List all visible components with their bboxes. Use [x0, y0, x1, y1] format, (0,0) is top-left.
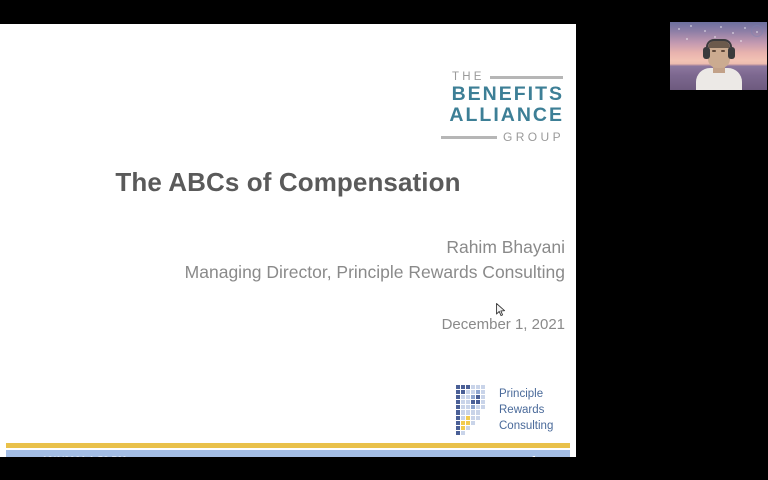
video-background-sparkle: [714, 36, 716, 38]
logo-dot: [476, 405, 480, 409]
presenter-name: Rahim Bhayani: [0, 235, 565, 260]
logo-dot: [461, 390, 465, 394]
logo-dot: [471, 431, 475, 435]
logo-rule-bottom: [441, 136, 497, 139]
logo-dot: [466, 405, 470, 409]
logo-dot: [476, 390, 480, 394]
logo-text-alliance: ALLIANCE: [449, 105, 564, 127]
logo-dot: [471, 426, 475, 430]
logo-dot: [456, 421, 460, 425]
logo-wordmark: Principle Rewards Consulting: [499, 386, 553, 435]
logo-dot: [466, 410, 470, 414]
logo-text-group: GROUP: [503, 131, 564, 143]
presenter-video-thumbnail[interactable]: [670, 22, 767, 90]
sponsor-line-2: Rewards: [499, 402, 553, 418]
sponsor-line-3: Consulting: [499, 418, 553, 434]
logo-dot: [461, 410, 465, 414]
video-background-sparkle: [704, 30, 706, 32]
benefits-alliance-logo: THE BENEFITS ALLIANCE GROUP: [452, 72, 564, 144]
presenter-eye-left: [712, 50, 716, 52]
logo-dot: [461, 405, 465, 409]
logo-row-the: THE: [452, 72, 564, 84]
logo-dot: [476, 400, 480, 404]
video-background-sparkle: [678, 28, 680, 30]
logo-dot: [486, 410, 490, 414]
logo-dot: [481, 421, 485, 425]
presenter-eye-right: [721, 50, 725, 52]
footer-timestamp: 12/1/2021 1:58 PM: [42, 455, 126, 457]
logo-dot: [461, 385, 465, 389]
video-background-sparkle: [756, 31, 758, 33]
footer-page-number: 1: [526, 454, 542, 457]
logo-dot: [466, 426, 470, 430]
logo-dot: [486, 431, 490, 435]
logo-dot: [481, 395, 485, 399]
logo-dot: [476, 416, 480, 420]
logo-dot: [461, 421, 465, 425]
presenter-role: Managing Director, Principle Rewards Con…: [0, 260, 565, 285]
logo-dot: [461, 426, 465, 430]
screen-share-view: THE BENEFITS ALLIANCE GROUP The ABCs of …: [0, 0, 768, 480]
logo-dot: [481, 405, 485, 409]
logo-dot: [476, 421, 480, 425]
presentation-slide[interactable]: THE BENEFITS ALLIANCE GROUP The ABCs of …: [0, 24, 576, 457]
logo-dot: [471, 421, 475, 425]
video-background-sparkle: [690, 25, 692, 27]
logo-dot: [481, 400, 485, 404]
logo-dot: [476, 431, 480, 435]
logo-dot: [486, 405, 490, 409]
logo-dot: [456, 390, 460, 394]
logo-dot: [466, 390, 470, 394]
logo-dot: [466, 416, 470, 420]
video-background-sparkle: [732, 32, 734, 34]
logo-text-the: THE: [452, 72, 485, 84]
logo-dot: [486, 385, 490, 389]
logo-dot: [471, 405, 475, 409]
logo-dot: [456, 410, 460, 414]
logo-dot: [471, 416, 475, 420]
logo-dot: [466, 400, 470, 404]
slide-footer: 12/1/2021 1:58 PM 1: [6, 450, 570, 457]
logo-text-benefits: BENEFITS: [452, 84, 564, 106]
logo-dot: [461, 431, 465, 435]
logo-rule-top: [490, 76, 563, 79]
logo-dot: [486, 400, 490, 404]
logo-dot: [471, 385, 475, 389]
presenter-figure: [696, 38, 742, 90]
logo-dot: [456, 400, 460, 404]
logo-row-benefits: BENEFITS: [452, 84, 564, 106]
principle-rewards-consulting-logo: Principle Rewards Consulting: [456, 381, 568, 439]
logo-dot: [456, 385, 460, 389]
logo-dot: [471, 410, 475, 414]
logo-dot: [486, 416, 490, 420]
headphone-cup-right-icon: [728, 47, 735, 59]
logo-dot: [456, 431, 460, 435]
logo-dot: [471, 395, 475, 399]
headphone-band-icon: [706, 39, 732, 47]
logo-dot: [466, 395, 470, 399]
logo-dot: [476, 410, 480, 414]
logo-dot: [481, 410, 485, 414]
logo-dot: [481, 416, 485, 420]
logo-dot: [486, 421, 490, 425]
logo-row-alliance: ALLIANCE: [452, 105, 564, 127]
logo-dot: [461, 395, 465, 399]
headphone-cup-left-icon: [703, 47, 710, 59]
logo-dot: [476, 426, 480, 430]
video-background-sparkle: [744, 27, 746, 29]
logo-dot: [481, 390, 485, 394]
logo-dot: [486, 395, 490, 399]
logo-dot: [466, 385, 470, 389]
logo-dot-grid: [456, 385, 490, 435]
logo-dot: [481, 426, 485, 430]
logo-dot: [461, 400, 465, 404]
slide-title: The ABCs of Compensation: [0, 167, 576, 198]
video-background-sparkle: [720, 26, 722, 28]
logo-dot: [456, 395, 460, 399]
logo-dot: [461, 416, 465, 420]
logo-dot: [456, 405, 460, 409]
video-background-sparkle: [686, 38, 688, 40]
footer-accent-bar: [6, 443, 570, 448]
logo-dot: [476, 385, 480, 389]
logo-dot: [456, 416, 460, 420]
logo-row-group: GROUP: [452, 131, 564, 143]
logo-dot: [466, 421, 470, 425]
sponsor-line-1: Principle: [499, 386, 553, 402]
logo-dot: [471, 400, 475, 404]
logo-dot: [466, 431, 470, 435]
presenter-block: Rahim Bhayani Managing Director, Princip…: [0, 235, 565, 285]
logo-dot: [486, 426, 490, 430]
logo-dot: [481, 385, 485, 389]
logo-dot: [476, 395, 480, 399]
logo-dot: [471, 390, 475, 394]
logo-dot: [481, 431, 485, 435]
slide-date: December 1, 2021: [0, 316, 565, 333]
logo-dot: [486, 390, 490, 394]
logo-dot: [456, 426, 460, 430]
video-background-sparkle: [740, 40, 742, 42]
